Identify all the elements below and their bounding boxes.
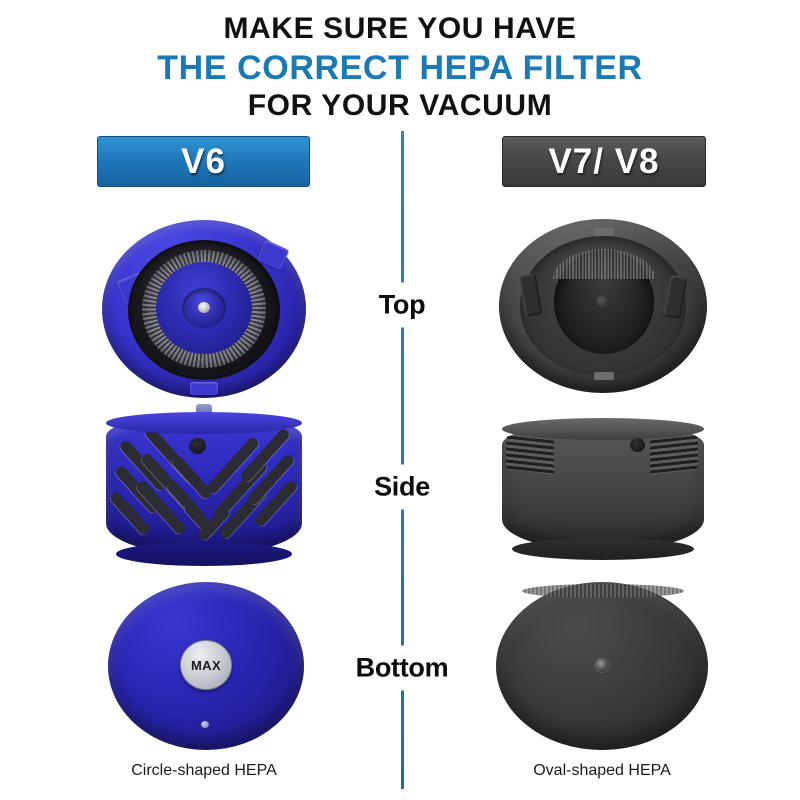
product-image-v6-bottom: MAX [108, 582, 304, 752]
product-image-v7v8-top [496, 216, 710, 396]
v7v8-side-bottom-rim [512, 538, 694, 560]
product-image-v7v8-side [498, 414, 708, 566]
v7v8-side-vent-left [506, 435, 554, 474]
v6-side-body [106, 414, 302, 554]
headline-block: MAKE SURE YOU HAVE THE CORRECT HEPA FILT… [0, 0, 800, 122]
headline-line-1: MAKE SURE YOU HAVE [0, 12, 800, 46]
v6-top-tab-bottom [190, 382, 218, 395]
product-image-v7v8-bottom [496, 582, 708, 754]
v7v8-side-top-edge [502, 418, 704, 440]
v7v8-bottom-edge-band [522, 584, 684, 598]
v6-bottom-pinhole [201, 721, 209, 728]
infographic-page: MAKE SURE YOU HAVE THE CORRECT HEPA FILT… [0, 0, 800, 800]
headline-line-2: THE CORRECT HEPA FILTER [0, 46, 800, 89]
v6-side-bottom-rim [116, 542, 292, 566]
badge-row: V6 V7/ V8 [0, 136, 800, 188]
v7v8-top-notch-bottom [594, 372, 614, 380]
v7v8-side-port-hole [630, 438, 645, 452]
v7v8-bottom-center-dot [594, 658, 610, 673]
v6-top-center-dot [198, 302, 210, 313]
badge-v7-v8: V7/ V8 [502, 136, 706, 187]
v6-side-top-edge [106, 412, 302, 434]
caption-left: Circle-shaped HEPA [98, 762, 310, 780]
caption-right: Oval-shaped HEPA [496, 762, 708, 780]
badge-v6: V6 [97, 136, 310, 187]
center-divider [401, 131, 404, 789]
headline-line-3: FOR YOUR VACUUM [0, 89, 800, 123]
v7v8-side-vent-right [650, 435, 698, 474]
product-image-v6-top [98, 214, 310, 402]
v7v8-top-notch-top [594, 228, 614, 236]
v6-bottom-max-badge: MAX [180, 640, 232, 690]
product-image-v6-side [100, 404, 308, 574]
v6-side-port-hole [189, 438, 206, 454]
v7v8-top-center-pin [596, 296, 608, 307]
